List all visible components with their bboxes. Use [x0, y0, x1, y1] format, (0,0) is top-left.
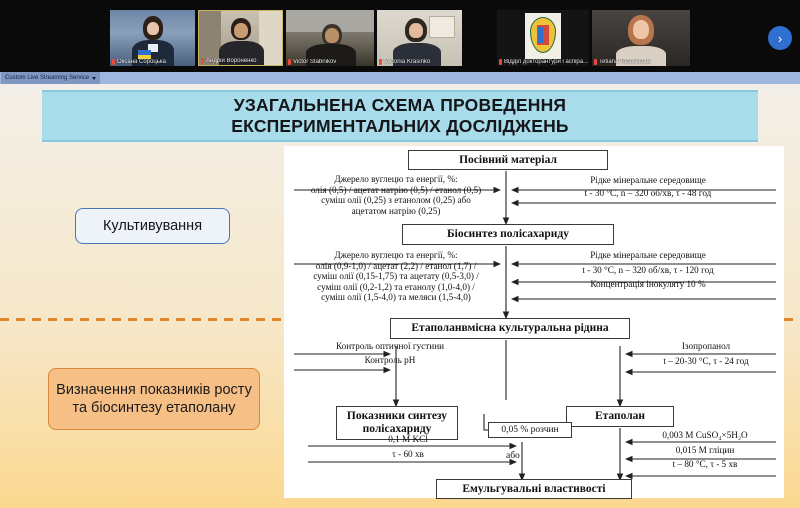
participant-tile[interactable]: Victor Stabnikov	[286, 10, 374, 66]
mic-muted-icon	[499, 59, 502, 65]
callout-cultivation-label: Культивування	[103, 217, 202, 235]
video-conference-strip: Оксана Сороцька Андрій Вороненко	[0, 0, 800, 72]
chevron-down-icon	[92, 77, 96, 80]
screen: Оксана Сороцька Андрій Вороненко	[0, 0, 800, 508]
callout-growth-indicators: Визначення показників росту та біосинтез…	[48, 368, 260, 430]
slide-title-line1: УЗАГАЛЬНЕНА СХЕМА ПРОВЕДЕННЯ	[234, 95, 566, 116]
label-stage3-left: Контроль оптичної густини Контроль рН	[290, 341, 490, 365]
callout-growth-indicators-label: Визначення показників росту та біосинтез…	[55, 381, 253, 417]
mic-muted-icon	[201, 58, 204, 64]
label-stage4-left: 0,1 М KCl τ - 60 хв	[308, 434, 508, 459]
participant-name: Tetiana Todosiichuk	[594, 59, 651, 65]
node-etapolan: Етаполан	[566, 406, 674, 427]
flowchart-canvas: Посівний матеріал Біосинтез полісахариду…	[284, 146, 784, 498]
label-stage3-right: Ізопропанол t – 20-30 °C, τ - 24 год	[634, 341, 778, 366]
node-culture-liquid: Етаполанвмісна культуральна рідина	[390, 318, 630, 339]
stream-toolbar: Custom Live Streaming Service	[0, 72, 800, 84]
label-stage1-right: Рідке мінеральне середовище t - 30 °C, n…	[522, 175, 774, 198]
label-stage4-right: 0,003 М CuSO₄×5H₂O 0,015 М гліцин t – 80…	[632, 430, 778, 470]
label-stage2-right: Рідке мінеральне середовище t - 30 °C, n…	[522, 250, 774, 290]
callout-cultivation: Культивування	[75, 208, 230, 244]
node-seed-material: Посівний матеріал	[408, 150, 608, 170]
label-stage2-left: Джерело вуглецю та енергії, %: олія (0,9…	[294, 250, 498, 303]
mic-muted-icon	[594, 59, 597, 65]
stream-service-selector[interactable]: Custom Live Streaming Service	[1, 72, 100, 84]
slide-title-line2: ЕКСПЕРИМЕНТАЛЬНИХ ДОСЛІДЖЕНЬ	[231, 116, 568, 137]
mic-muted-icon	[112, 59, 115, 65]
presentation-slide: УЗАГАЛЬНЕНА СХЕМА ПРОВЕДЕННЯ ЕКСПЕРИМЕНТ…	[0, 84, 800, 508]
node-emulsifying-properties: Емульгувальні властивості	[436, 479, 632, 499]
next-participants-button[interactable]: ›	[768, 26, 792, 50]
mic-muted-icon	[379, 59, 382, 65]
participant-name: Viktoriia Krasinko	[379, 59, 430, 65]
participant-name: Victor Stabnikov	[288, 59, 336, 65]
participant-name: Відділ докторантури і аспіра...	[499, 59, 588, 65]
mic-muted-icon	[288, 59, 291, 65]
stream-service-label: Custom Live Streaming Service	[5, 75, 89, 81]
slide-title: УЗАГАЛЬНЕНА СХЕМА ПРОВЕДЕННЯ ЕКСПЕРИМЕНТ…	[42, 90, 758, 142]
label-stage1-left: Джерело вуглецю та енергії, %: олія (0,5…	[296, 174, 496, 216]
participant-name: Оксана Сороцька	[112, 59, 166, 65]
participant-tile[interactable]: Tetiana Todosiichuk	[592, 10, 690, 66]
chevron-right-icon: ›	[778, 32, 782, 45]
label-or: або	[506, 451, 520, 462]
participant-tile[interactable]: Viktoriia Krasinko	[377, 10, 462, 66]
node-biosynthesis: Біосинтез полісахариду	[402, 224, 614, 245]
participant-tile[interactable]: Андрій Вороненко	[198, 10, 283, 66]
participant-tile[interactable]: Оксана Сороцька	[110, 10, 195, 66]
participant-tile[interactable]: Відділ докторантури і аспіра...	[497, 10, 589, 66]
participant-name: Андрій Вороненко	[201, 58, 257, 64]
